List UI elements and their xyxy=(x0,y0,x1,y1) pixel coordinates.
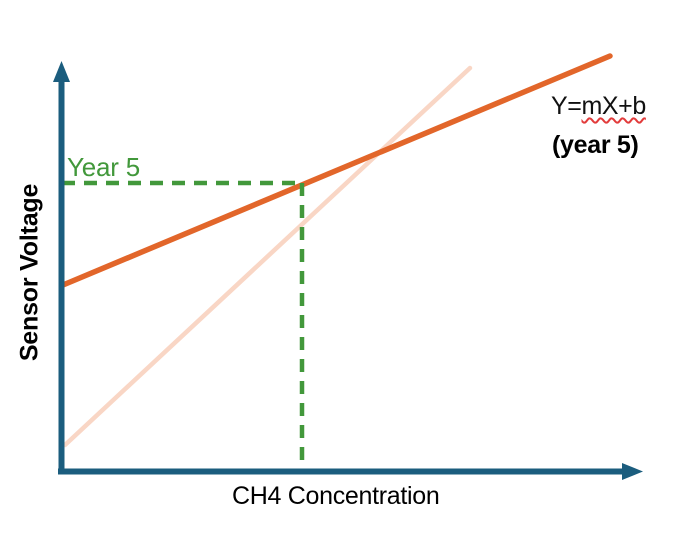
x-axis-label: CH4 Concentration xyxy=(232,482,440,511)
guide-marker-label: Year 5 xyxy=(67,152,140,183)
chart-plot-area xyxy=(0,0,699,536)
equation-prefix: Y= xyxy=(551,92,581,120)
equation-misspelled-term: mX+b xyxy=(581,92,645,120)
y-axis-label: Sensor Voltage xyxy=(16,163,45,383)
series-line-current xyxy=(63,56,610,285)
chart-figure: Sensor Voltage CH4 Concentration Year 5 … xyxy=(0,0,699,536)
x-axis-arrowhead xyxy=(622,463,643,480)
y-axis-arrowhead xyxy=(53,61,70,82)
equation-annotation-subtitle: (year 5) xyxy=(552,131,639,160)
equation-annotation-line1: Y=mX+b xyxy=(551,92,646,121)
